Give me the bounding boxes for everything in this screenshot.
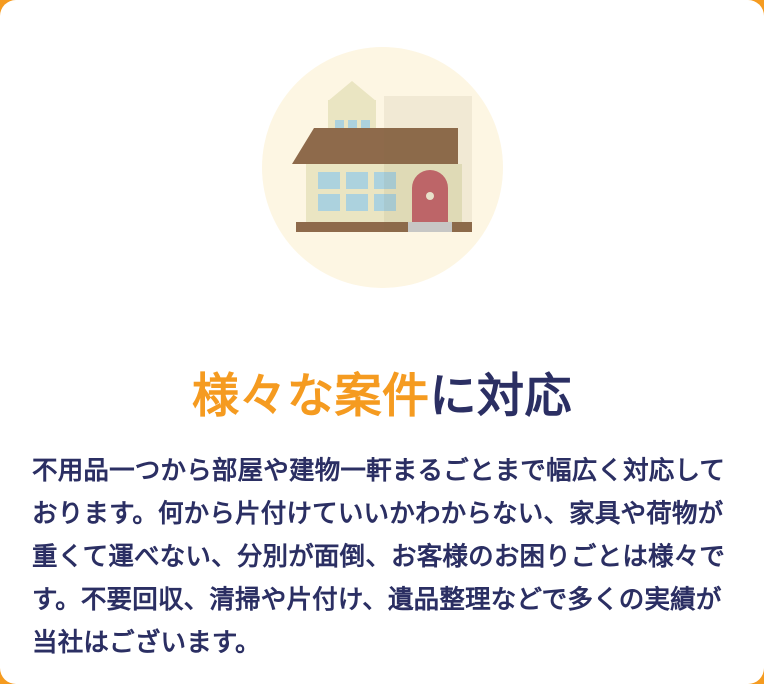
body-description: 不用品一つから部屋や建物一軒まるごとまで幅広く対応しております。何から片付けてい… xyxy=(32,450,736,665)
house-window-5 xyxy=(346,194,368,211)
page-title-base: に対応 xyxy=(430,369,573,424)
page-title: 様々な案件に対応 xyxy=(0,369,764,425)
icon-area xyxy=(0,0,764,320)
house-window-1 xyxy=(318,172,340,189)
house-dormer-roof xyxy=(328,81,376,101)
house-shading-overlay xyxy=(384,96,472,232)
house-window-4 xyxy=(318,194,340,211)
house-icon xyxy=(296,96,472,232)
service-feature-card: 様々な案件に対応 不用品一つから部屋や建物一軒まるごとまで幅広く対応しております… xyxy=(0,0,764,684)
house-window-2 xyxy=(346,172,368,189)
page-title-accent: 様々な案件 xyxy=(192,369,430,424)
